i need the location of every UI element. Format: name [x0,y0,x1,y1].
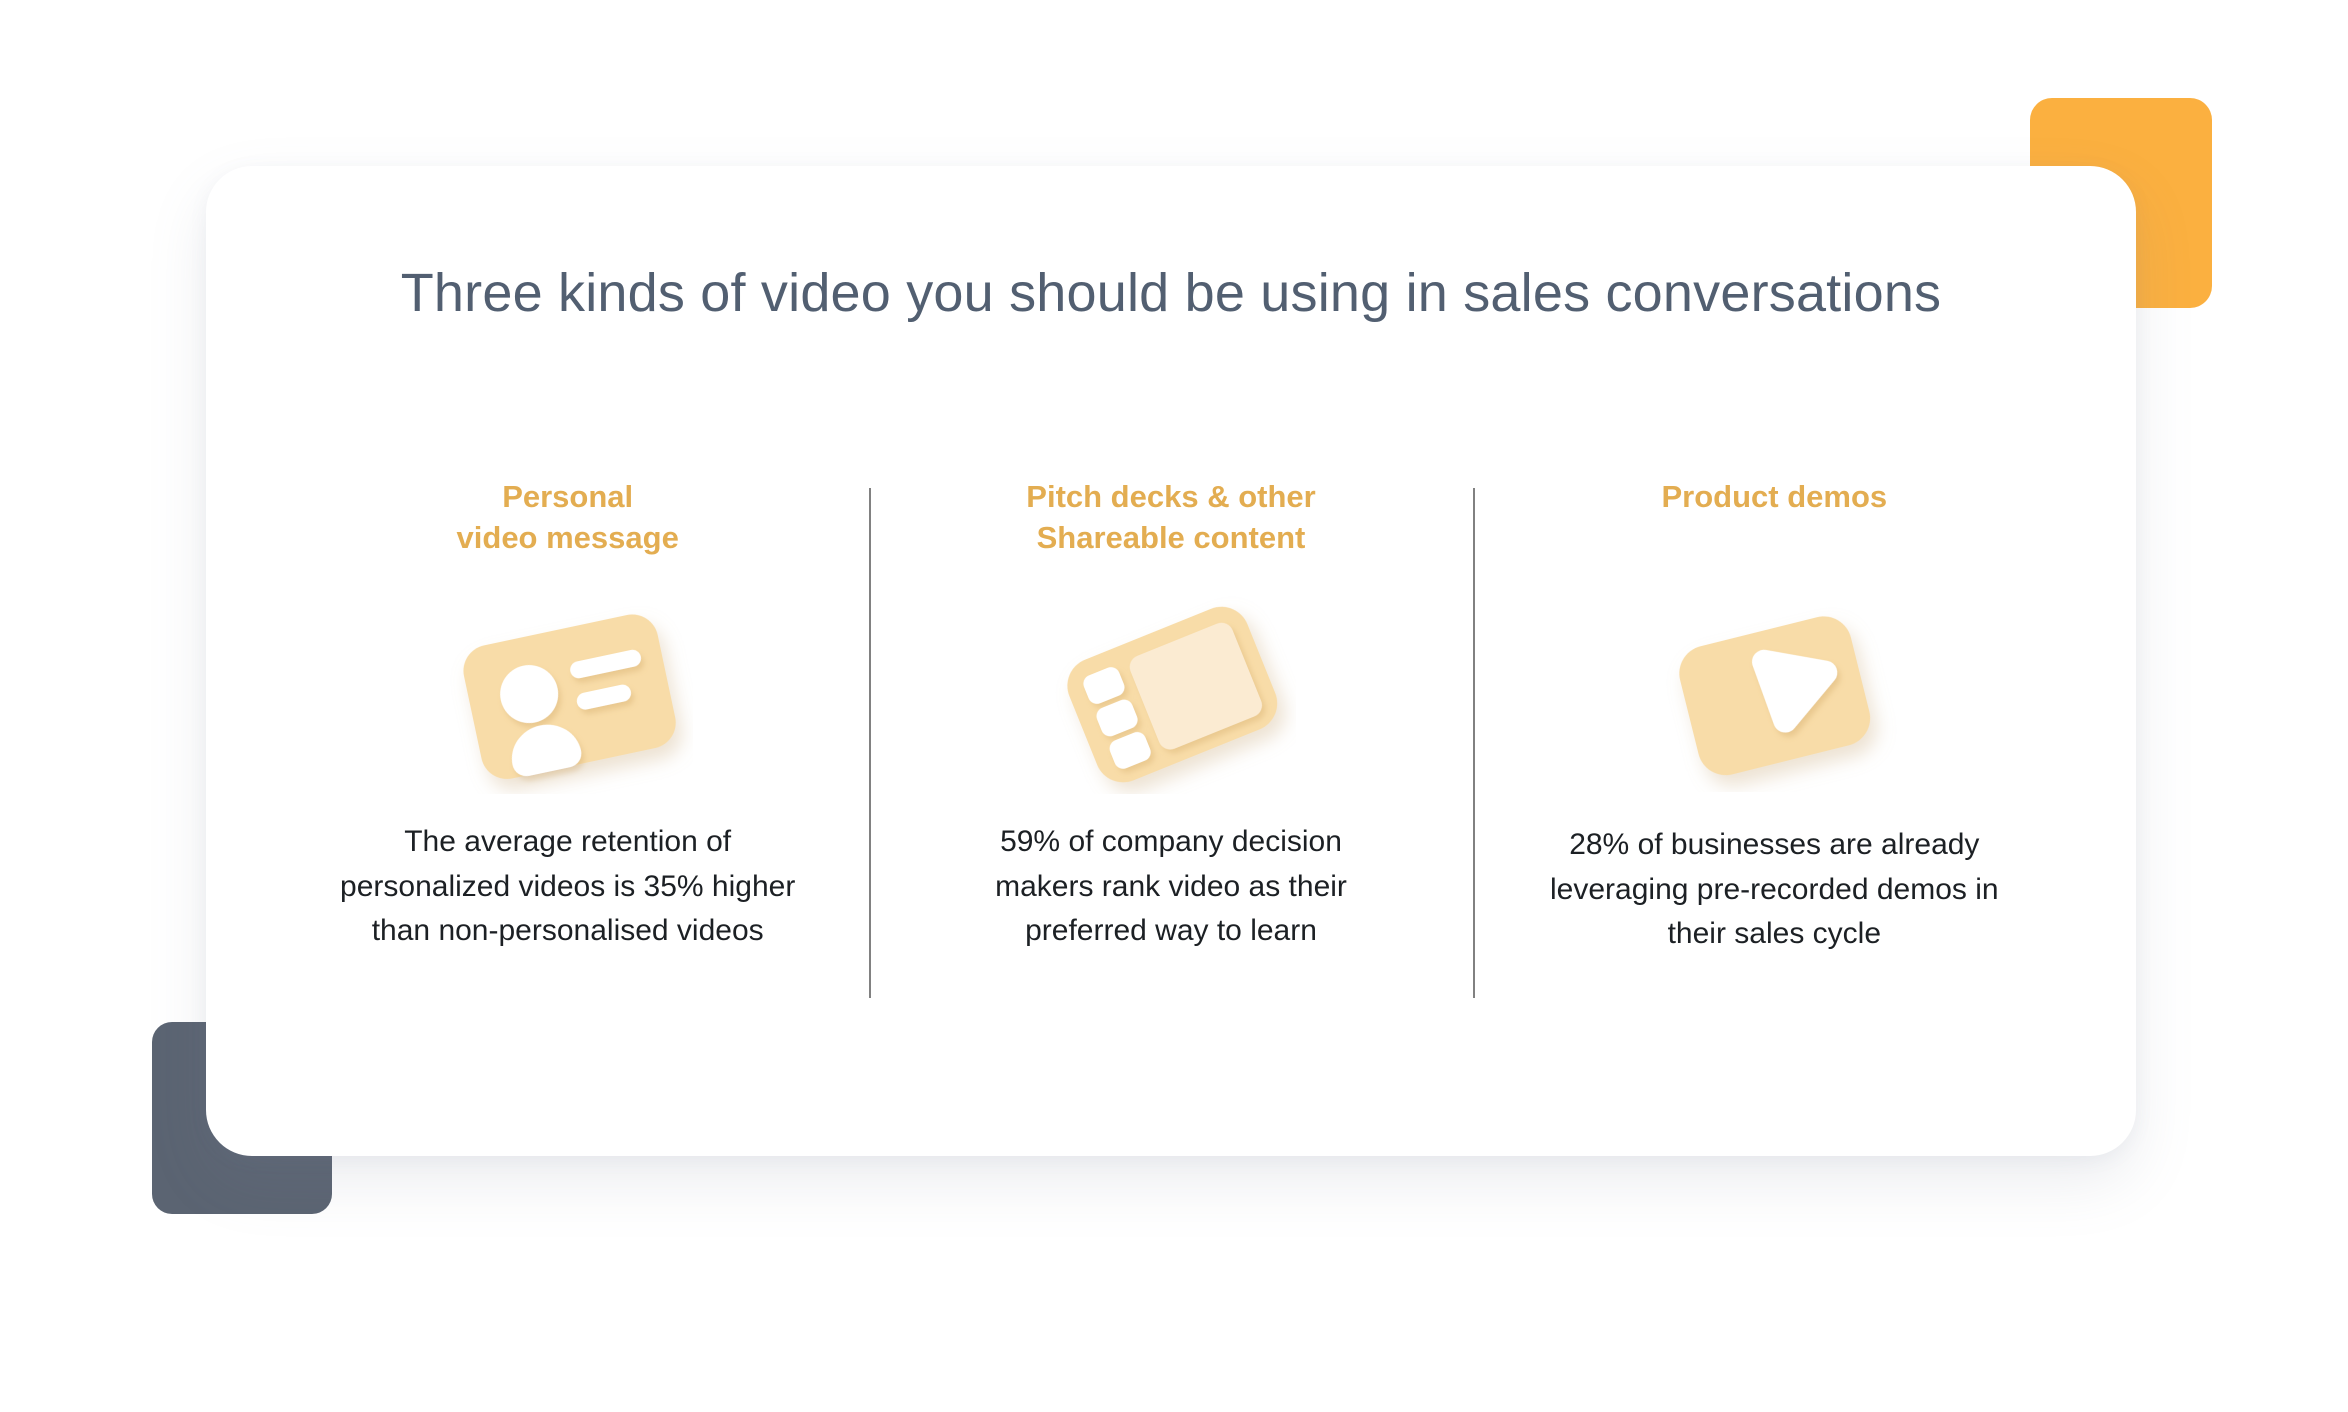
slide-deck-icon [1046,594,1296,794]
infographic-card: Three kinds of video you should be using… [206,166,2136,1156]
page-title: Three kinds of video you should be using… [206,262,2136,324]
personal-video-message-card-icon [443,594,693,794]
column-heading: Pitch decks & other Shareable content [1026,476,1315,558]
icon-container [302,568,833,820]
column-body-text: 59% of company decision makers rank vide… [951,820,1391,953]
columns-container: Personal video message [266,476,2076,956]
column-heading: Product demos [1661,476,1887,517]
column-personal-video-message: Personal video message [266,476,869,954]
column-body-text: 28% of businesses are already leveraging… [1534,823,2014,956]
icon-container [905,568,1436,820]
column-body-text: The average retention of personalized vi… [333,820,803,953]
column-pitch-decks-shareable-content: Pitch decks & other Shareable content [869,476,1472,954]
video-play-icon [1649,602,1899,792]
column-heading: Personal video message [457,476,679,558]
icon-container [1509,571,2040,823]
column-product-demos: Product demos [1473,476,2076,956]
